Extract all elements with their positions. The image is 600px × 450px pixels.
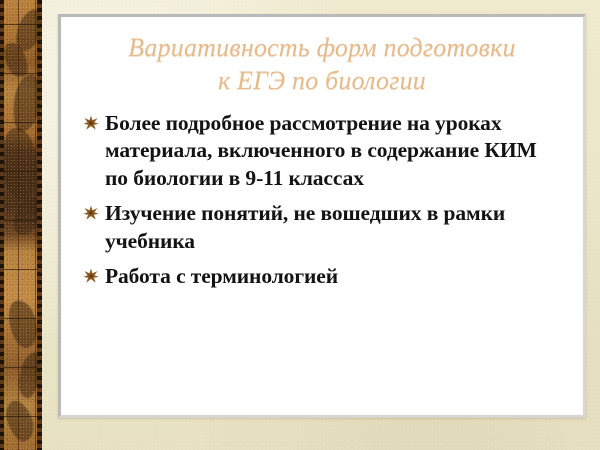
star-burst-icon [83, 205, 105, 221]
band-grid-lines [4, 0, 37, 450]
list-item-text: Работа с терминологией [105, 263, 561, 291]
band-left-edge [0, 0, 4, 450]
list-item: Изучение понятий, не вошедших в рамки уч… [83, 200, 561, 256]
content-panel: Вариативность форм подготовки к ЕГЭ по б… [58, 14, 586, 418]
star-burst-icon [83, 268, 105, 284]
list-item: Более подробное рассмотрение на уроках м… [83, 110, 561, 194]
presentation-slide: Вариативность форм подготовки к ЕГЭ по б… [0, 0, 600, 450]
left-decorative-band [0, 0, 42, 450]
list-item-text: Изучение понятий, не вошедших в рамки уч… [105, 200, 561, 256]
slide-title: Вариативность форм подготовки к ЕГЭ по б… [61, 17, 583, 98]
list-item-text: Более подробное рассмотрение на уроках м… [105, 110, 561, 194]
star-burst-icon [83, 115, 105, 131]
band-right-edge [37, 0, 42, 450]
list-item: Работа с терминологией [83, 263, 561, 291]
bullet-list: Более подробное рассмотрение на уроках м… [61, 110, 583, 292]
